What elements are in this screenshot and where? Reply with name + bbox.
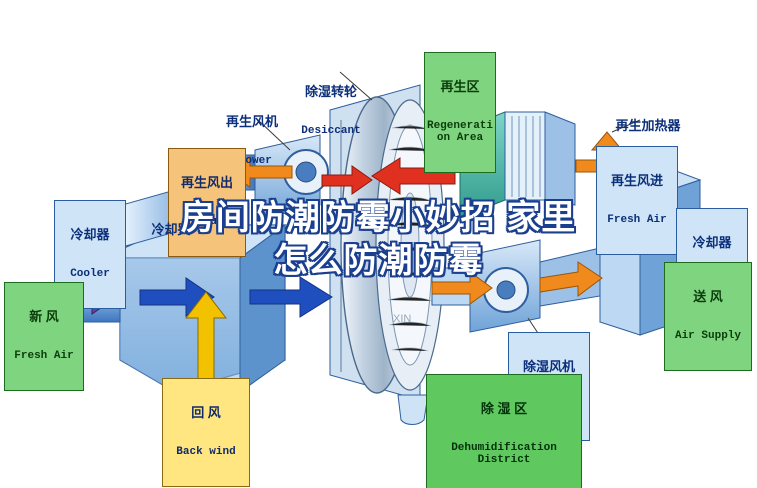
label-cooling-cry-cn: 冷却哭 — [140, 223, 202, 237]
label-back-wind: 回 风 Back wind — [162, 378, 250, 487]
diagram-canvas: XIN 除湿转轮 Desiccant 再生区 Regenerati on Are… — [0, 0, 757, 488]
label-fresh-air: 新 风 Fresh Air — [4, 282, 84, 391]
label-fresh-air-en: Fresh Air — [5, 351, 83, 363]
label-air-supply-cn: 送 风 — [665, 290, 751, 304]
label-desiccant-wheel: 除湿转轮 Desiccant — [288, 58, 374, 165]
label-cooler-left-en: Cooler — [55, 269, 125, 281]
label-back-wind-cn: 回 风 — [163, 406, 249, 420]
label-regen-fresh-air: 再生风进 Fresh Air — [596, 146, 678, 255]
label-desiccant-wheel-cn: 除湿转轮 — [288, 85, 374, 99]
label-back-wind-en: Back wind — [163, 447, 249, 459]
label-regen-exhaust-cn: 再生风出 — [169, 176, 245, 190]
label-cooler-left-cn: 冷却器 — [55, 228, 125, 242]
label-dehumidification-district-cn: 除 湿 区 — [427, 402, 581, 416]
label-regeneration-area: 再生区 Regenerati on Area — [424, 52, 496, 173]
label-air-supply-en: Air Supply — [665, 331, 751, 343]
label-regen-fresh-air-cn: 再生风进 — [597, 174, 677, 188]
label-dehumidification-district: 除 湿 区 Dehumidification District — [426, 374, 582, 488]
label-regen-heater-cn: 再生加热器 — [600, 119, 696, 133]
label-dehumidification-district-en: Dehumidification District — [427, 443, 581, 466]
label-regeneration-area-cn: 再生区 — [425, 80, 495, 94]
label-dehum-blower-cn: 除湿风机 — [509, 360, 589, 374]
label-regen-fresh-air-en: Fresh Air — [597, 215, 677, 227]
label-regen-blower-cn: 再生风机 — [212, 115, 292, 129]
label-cooling-cry: 冷却哭 — [140, 196, 202, 264]
label-desiccant-wheel-en: Desiccant — [288, 126, 374, 138]
label-regeneration-area-en: Regenerati on Area — [425, 121, 495, 144]
label-fresh-air-cn: 新 风 — [5, 310, 83, 324]
label-air-supply: 送 风 Air Supply — [664, 262, 752, 371]
watermark-text: XIN — [393, 313, 411, 325]
label-cooler-right-cn: 冷却器 — [677, 236, 747, 250]
